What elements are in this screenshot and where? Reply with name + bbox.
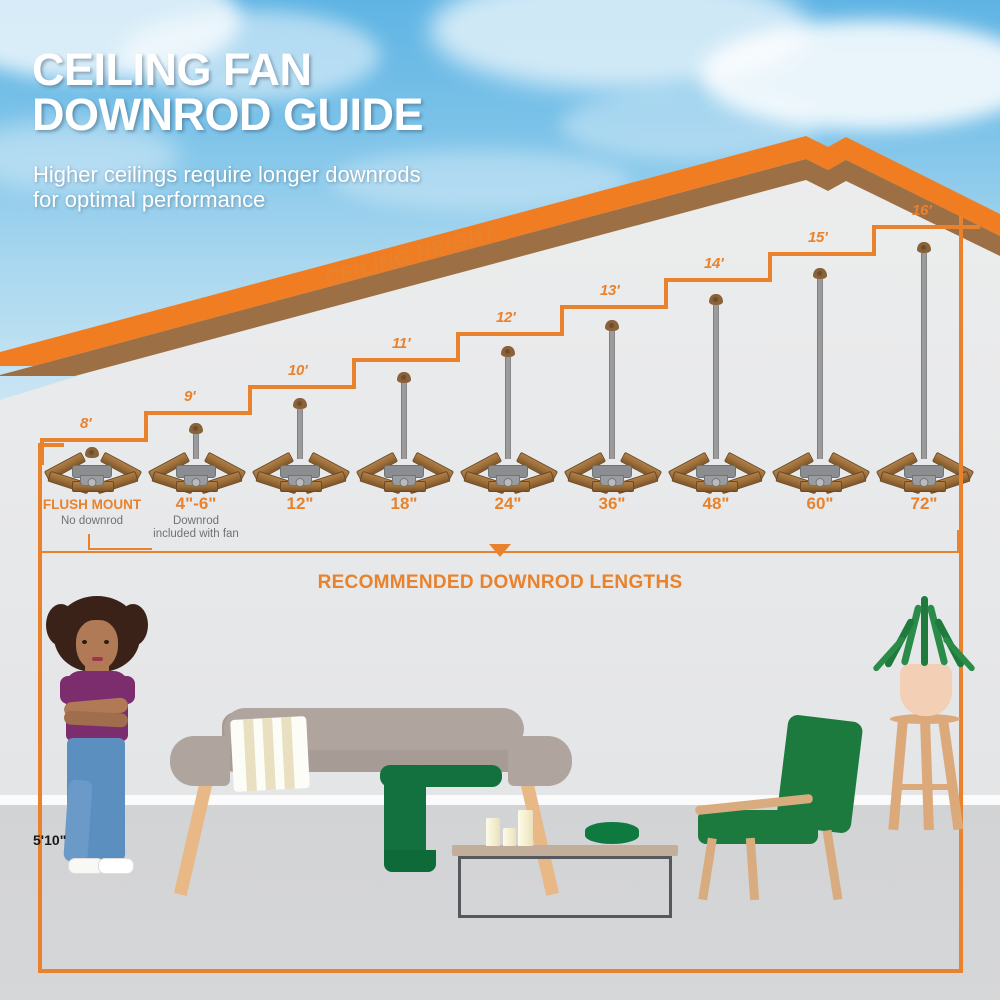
ceiling-step-riser [768,252,772,283]
throw-blanket-fringe [384,850,436,872]
ceiling-step-tread [872,225,980,229]
fan-canopy [813,268,827,279]
fan-canopy [917,242,931,253]
fan-downrod [921,253,927,459]
flush-mount-inner-bracket [88,548,152,550]
fan-hub [400,478,409,487]
pillow-stripe [281,717,295,789]
person-face [76,620,118,670]
downrod-length-value: 72" [849,494,999,514]
fan-hub [920,478,929,487]
candle [503,828,516,846]
fan-canopy [709,294,723,305]
ceiling-step-tread [768,252,876,256]
table-top [452,845,678,856]
fan-hub [88,478,97,487]
fan-downrod [609,331,615,459]
frame-bottom-edge [38,969,963,973]
ceiling-step-tread [40,438,148,442]
ceiling-step-tread [456,332,564,336]
fan-canopy [85,447,99,458]
throw-pillow [230,716,310,792]
throw-blanket-drape [384,767,426,859]
table-frame [458,856,672,918]
candle [486,818,500,846]
ceiling-step-tread [664,278,772,282]
ceiling-step-tread [248,385,356,389]
person-height-label: 5'10" [33,832,66,848]
frame-left-edge [38,443,42,973]
ceiling-step-tread [144,411,252,415]
ceiling-height-value: 11' [392,335,410,352]
ceiling-height-value: 12' [496,309,515,326]
fan-hub [192,478,201,487]
fan-downrod [505,357,511,459]
fan-downrod [713,305,719,459]
fan-downrod [401,383,407,459]
fan-downrod [297,409,303,459]
fan-canopy [189,423,203,434]
person-mouth [92,657,103,661]
frame-right-edge [959,216,963,973]
fan-downrod [193,434,199,459]
ceiling-step-riser [144,411,148,442]
ceiling-step-riser [560,305,564,336]
ceiling-height-value: 8' [80,415,91,432]
plant-stand-brace [896,784,952,790]
ceiling-height-value: 14' [704,255,723,272]
fan-hub [296,478,305,487]
plant-pot [900,664,952,716]
fan-hub [608,478,617,487]
ceiling-step-riser [352,358,356,389]
ceiling-step-riser [664,278,668,309]
person-hair [46,604,76,646]
fan-canopy [501,346,515,357]
sofa-armrest-right [508,736,572,786]
candle [518,810,533,846]
person-sleeve [60,676,78,704]
pillow-stripe [262,718,276,790]
infographic-canvas: CEILING FAN DOWNROD GUIDE Higher ceiling… [0,0,1000,1000]
ceiling-step-chart: 8'FLUSH MOUNTNo downrod9'4"-6"Downrodinc… [0,0,1000,560]
fan-hub [504,478,513,487]
downrod-note-line: included with fan [153,528,239,540]
ceiling-height-value: 15' [808,229,827,246]
ceiling-step-tread [560,305,668,309]
downrod-note-line: Downrod [173,515,219,527]
fan-hub [712,478,721,487]
pillow-stripe [243,719,257,791]
fan-canopy [397,372,411,383]
person-eye [82,640,87,644]
fan-hub [816,478,825,487]
ceiling-height-value: 16' [912,202,931,219]
sofa-armrest-left [170,736,230,786]
person-jeans-leg [99,780,126,863]
decor-dish [585,822,639,844]
person-shoe [98,858,134,874]
person-hair [118,604,148,646]
downrod-bracket-caption: RECOMMENDED DOWNROD LENGTHS [0,572,1000,594]
ceiling-step-riser [456,332,460,363]
ceiling-height-value: 10' [288,362,307,379]
ceiling-height-value: 9' [184,388,195,405]
person-eye [104,640,109,644]
fan-canopy [605,320,619,331]
ceiling-step-riser [248,385,252,416]
ceiling-step-riser [872,225,876,256]
downrod-bracket-pointer-icon [489,544,511,557]
fan-downrod [817,279,823,459]
fan-canopy [293,398,307,409]
ceiling-step-tread [352,358,460,362]
ceiling-height-value: 13' [600,282,619,299]
